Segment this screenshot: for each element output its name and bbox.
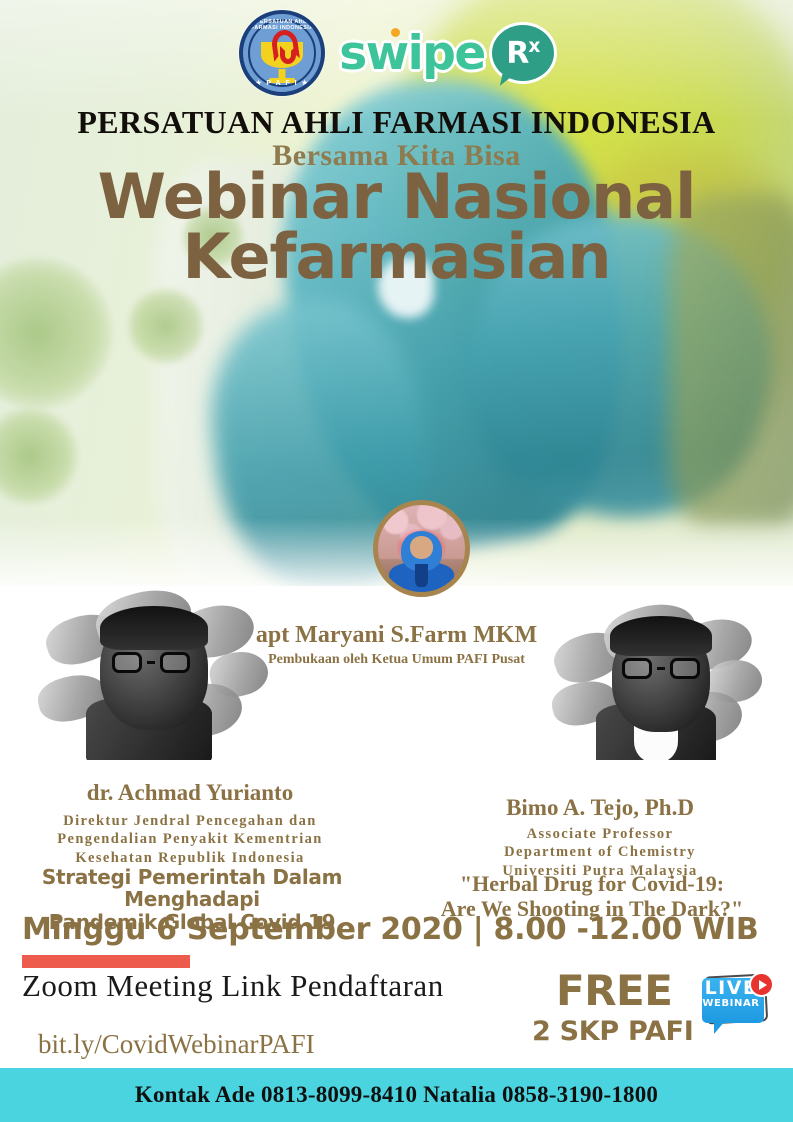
rx-bubble-icon: Rx xyxy=(492,25,554,81)
registration-link[interactable]: bit.ly/CovidWebinarPAFI xyxy=(38,1029,315,1060)
pafi-ring-text-bottom: ★ P A F I ★ xyxy=(243,79,321,87)
footer-contact-bar: Kontak Ade 0813-8099-8410 Natalia 0858-3… xyxy=(0,1068,793,1122)
photo-collar xyxy=(415,564,429,587)
portrait-glasses-icon xyxy=(112,652,190,673)
live-webinar-badge-icon: LIVE WEBINAR xyxy=(700,972,774,1038)
speaker-photo-tejo xyxy=(552,600,766,760)
photo-face xyxy=(410,536,433,559)
portrait-hair xyxy=(100,606,208,650)
price-free-label: FREE xyxy=(556,966,672,1015)
speaker-affiliation-yurianto: Direktur Jendral Pencegahan dan Pengenda… xyxy=(0,812,390,867)
virus-motif-icon xyxy=(0,408,78,504)
organization-name: PERSATUAN AHLI FARMASI INDONESIA xyxy=(0,104,793,141)
speaker-name-tejo: Bimo A. Tejo, Ph.D xyxy=(400,795,793,821)
footer-contact-text: Kontak Ade 0813-8099-8410 Natalia 0858-3… xyxy=(135,1082,658,1108)
speaker-photo-maryani xyxy=(373,500,470,597)
rx-text: Rx xyxy=(506,38,539,69)
play-button-icon xyxy=(749,972,774,997)
swipe-wordmark: swipe xyxy=(339,30,485,77)
portrait-glasses-icon xyxy=(622,658,700,679)
virus-motif-icon xyxy=(128,288,204,364)
portrait-brush-mask xyxy=(552,600,766,760)
red-accent-bar xyxy=(22,955,190,968)
badge-speech-tail xyxy=(714,1021,725,1034)
logo-row: PERSATUAN AHLI FARMASI INDONESIA ★ P A F… xyxy=(0,8,793,98)
portrait-brush-mask xyxy=(38,588,270,760)
badge-webinar-text: WEBINAR xyxy=(700,999,762,1009)
main-title: Webinar Nasional Kefarmasian xyxy=(0,167,793,287)
pafi-logo-icon: PERSATUAN AHLI FARMASI INDONESIA ★ P A F… xyxy=(239,10,325,96)
swiperx-logo: swipe Rx xyxy=(339,25,554,81)
swipe-orange-dot-icon xyxy=(391,28,400,37)
credits-label: 2 SKP PAFI xyxy=(532,1016,693,1047)
speaker-photo-yurianto xyxy=(38,588,270,760)
speaker-name-yurianto: dr. Achmad Yurianto xyxy=(0,780,390,806)
webinar-poster: PERSATUAN AHLI FARMASI INDONESIA ★ P A F… xyxy=(0,0,793,1122)
main-title-line2: Kefarmasian xyxy=(0,227,793,287)
swipe-wordmark-text: swipe xyxy=(339,26,485,81)
date-time-line: Minggu 6 September 2020 | 8.00 -12.00 WI… xyxy=(22,912,758,947)
portrait-hair xyxy=(610,616,712,656)
platform-registration-label: Zoom Meeting Link Pendaftaran xyxy=(22,968,444,1004)
